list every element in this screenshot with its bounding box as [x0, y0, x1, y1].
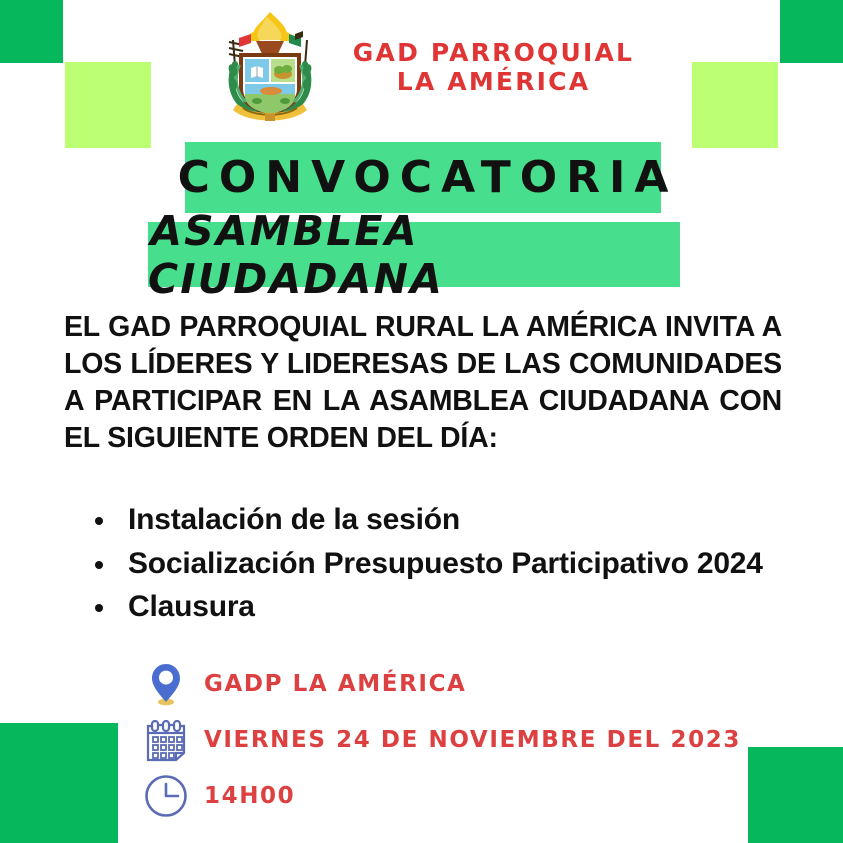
agenda-item: Clausura	[86, 585, 806, 629]
event-location-row: GADP LA AMÉRICA	[140, 656, 780, 712]
location-pin-icon	[140, 658, 192, 710]
organization-name: GAD PARROQUIAL LA AMÉRICA	[353, 38, 634, 97]
event-details: GADP LA AMÉRICA	[140, 656, 780, 824]
decor-square-bottom-left-green	[0, 723, 118, 843]
banner-title-text: CONVOCATORIA	[169, 152, 678, 203]
agenda-item: Instalación de la sesión	[86, 498, 806, 542]
agenda-item: Socialización Presupuesto Participativo …	[86, 542, 806, 586]
calendar-icon	[140, 714, 192, 766]
invitation-paragraph: EL GAD PARROQUIAL RURAL LA AMÉRICA INVIT…	[64, 309, 782, 457]
event-location-label: GADP LA AMÉRICA	[204, 671, 466, 697]
event-date-row: VIERNES 24 DE NOVIEMBRE DEL 2023	[140, 712, 780, 768]
banner-convocatoria: CONVOCATORIA	[185, 142, 661, 213]
event-time-label: 14H00	[204, 783, 295, 809]
banner-subtitle-text: ASAMBLEA CIUDADANA	[148, 207, 680, 303]
event-time-row: 14H00	[140, 768, 780, 824]
banner-asamblea-ciudadana: ASAMBLEA CIUDADANA	[148, 222, 680, 287]
agenda-list: Instalación de la sesión Socialización P…	[86, 498, 806, 629]
clock-icon	[140, 770, 192, 822]
poster-header: GAD PARROQUIAL LA AMÉRICA	[0, 4, 843, 130]
event-date-label: VIERNES 24 DE NOVIEMBRE DEL 2023	[204, 727, 741, 753]
coat-of-arms-icon	[209, 8, 331, 126]
poster-canvas: GAD PARROQUIAL LA AMÉRICA CONVOCATORIA A…	[0, 0, 843, 843]
